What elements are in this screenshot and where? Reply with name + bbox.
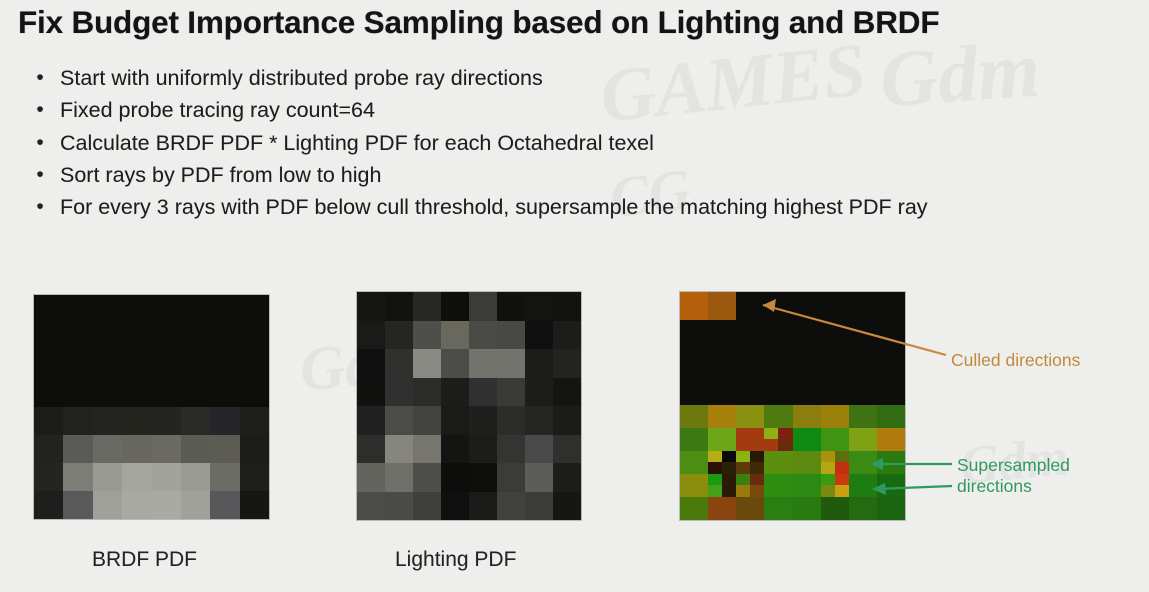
texel <box>385 349 413 378</box>
texel-subsample <box>722 462 736 474</box>
texel <box>849 497 877 520</box>
texel <box>122 295 151 323</box>
texel <box>93 295 122 323</box>
texel <box>34 491 63 519</box>
texel <box>385 378 413 407</box>
texel <box>181 323 210 351</box>
texel-subsample <box>750 474 764 486</box>
texel <box>708 497 736 520</box>
texel-subsample <box>764 428 778 440</box>
texel-subsample <box>708 485 722 497</box>
texel <box>34 323 63 351</box>
texel <box>240 379 269 407</box>
bullet-text: Calculate BRDF PDF * Lighting PDF for ea… <box>60 129 654 157</box>
texel <box>441 463 469 492</box>
texel <box>441 321 469 350</box>
texel <box>210 379 239 407</box>
caption-lighting-pdf: Lighting PDF <box>395 548 516 572</box>
texel <box>152 407 181 435</box>
texel <box>210 407 239 435</box>
texel <box>680 451 708 474</box>
texel <box>736 405 764 428</box>
texel <box>821 428 849 451</box>
texel-subsample <box>750 462 764 474</box>
texel <box>736 497 764 520</box>
texel <box>240 491 269 519</box>
texel-subsample <box>778 428 792 440</box>
texel <box>821 405 849 428</box>
texel <box>849 451 877 474</box>
texel <box>764 497 792 520</box>
texel-subsample <box>750 485 764 497</box>
texel-subsample <box>736 462 750 474</box>
texel <box>357 378 385 407</box>
texel <box>181 295 210 323</box>
texel-subsample <box>778 439 792 451</box>
texel <box>122 351 151 379</box>
texel <box>385 463 413 492</box>
bullet-item: •Sort rays by PDF from low to high <box>20 161 1140 193</box>
texel <box>553 349 581 378</box>
texel <box>122 435 151 463</box>
texel-subsample <box>736 474 750 486</box>
texel-subsample <box>764 439 778 451</box>
texel <box>240 435 269 463</box>
bullet-item: •Fixed probe tracing ray count=64 <box>20 96 1140 128</box>
texel <box>469 463 497 492</box>
texel <box>793 474 821 497</box>
texel-subsample <box>708 474 722 486</box>
texel <box>385 492 413 521</box>
texel <box>877 405 905 428</box>
texel <box>357 349 385 378</box>
texel <box>63 379 92 407</box>
texel <box>849 474 877 497</box>
texel <box>877 497 905 520</box>
texel-subsample <box>750 451 764 463</box>
texel <box>122 491 151 519</box>
texel <box>553 492 581 521</box>
texel <box>152 463 181 491</box>
texel <box>34 463 63 491</box>
texel <box>34 351 63 379</box>
texel <box>680 497 708 520</box>
texel <box>122 323 151 351</box>
texel <box>63 323 92 351</box>
bullet-text: For every 3 rays with PDF below cull thr… <box>60 193 928 221</box>
culled-texel <box>708 292 736 320</box>
texel <box>441 492 469 521</box>
texel <box>63 407 92 435</box>
texel <box>553 321 581 350</box>
texel <box>469 435 497 464</box>
texel <box>469 406 497 435</box>
texel <box>210 351 239 379</box>
slide-title: Fix Budget Importance Sampling based on … <box>18 4 939 41</box>
texel <box>525 321 553 350</box>
texel <box>152 323 181 351</box>
texel <box>525 378 553 407</box>
texel <box>525 435 553 464</box>
bullet-dot-icon: • <box>20 96 60 124</box>
texel <box>93 351 122 379</box>
texel-subsample <box>708 451 722 463</box>
texel <box>764 451 792 474</box>
texel <box>441 378 469 407</box>
figure-brdf-pdf <box>33 294 270 520</box>
texel <box>525 349 553 378</box>
texel <box>793 497 821 520</box>
texel <box>210 463 239 491</box>
texel <box>63 463 92 491</box>
texel <box>152 491 181 519</box>
texel <box>497 321 525 350</box>
texel <box>497 378 525 407</box>
texel <box>413 321 441 350</box>
texel <box>764 405 792 428</box>
texel <box>181 379 210 407</box>
texel <box>413 292 441 321</box>
supersampled-texel <box>736 474 764 497</box>
texel <box>413 492 441 521</box>
texel <box>413 406 441 435</box>
texel <box>385 406 413 435</box>
texel <box>413 378 441 407</box>
texel-subsample <box>736 485 750 497</box>
texel-subsample <box>722 451 736 463</box>
texel <box>441 435 469 464</box>
texel <box>357 406 385 435</box>
texel <box>469 492 497 521</box>
culled-texel <box>680 292 708 320</box>
bullet-dot-icon: • <box>20 129 60 157</box>
texel <box>680 474 708 497</box>
texel-subsample <box>821 474 835 486</box>
texel <box>877 474 905 497</box>
texel <box>93 491 122 519</box>
texel-subsample <box>722 485 736 497</box>
texel <box>821 497 849 520</box>
texel-subsample <box>708 462 722 474</box>
texel <box>497 463 525 492</box>
texel <box>240 463 269 491</box>
texel <box>122 407 151 435</box>
texel <box>708 405 736 428</box>
supersampled-texel <box>708 451 736 474</box>
texel <box>497 435 525 464</box>
bullet-text: Start with uniformly distributed probe r… <box>60 64 543 92</box>
texel <box>877 451 905 474</box>
texel <box>357 321 385 350</box>
result-bottom-region <box>680 405 905 520</box>
texel <box>34 435 63 463</box>
texel-subsample <box>821 485 835 497</box>
texel <box>497 406 525 435</box>
texel <box>849 428 877 451</box>
texel <box>210 323 239 351</box>
bullet-text: Sort rays by PDF from low to high <box>60 161 381 189</box>
texel <box>497 292 525 321</box>
texel <box>553 435 581 464</box>
texel <box>63 435 92 463</box>
bullet-dot-icon: • <box>20 64 60 92</box>
bullet-item: •Start with uniformly distributed probe … <box>20 64 1140 96</box>
texel <box>525 492 553 521</box>
texel <box>385 321 413 350</box>
texel <box>93 435 122 463</box>
texel <box>210 435 239 463</box>
texel <box>553 406 581 435</box>
bullet-text: Fixed probe tracing ray count=64 <box>60 96 375 124</box>
texel <box>181 435 210 463</box>
texel <box>441 406 469 435</box>
figure-combined-pdf <box>679 291 906 521</box>
texel <box>63 491 92 519</box>
texel <box>525 463 553 492</box>
caption-brdf-pdf: BRDF PDF <box>92 548 197 572</box>
texel <box>34 379 63 407</box>
texel-subsample <box>835 474 849 486</box>
texel <box>680 428 708 451</box>
texel <box>793 428 821 451</box>
texel <box>357 492 385 521</box>
texel-subsample <box>835 451 849 463</box>
texel <box>357 435 385 464</box>
texel <box>708 428 736 451</box>
culled-directions-block <box>680 292 736 320</box>
figure-lighting-pdf <box>356 291 582 521</box>
texel <box>63 295 92 323</box>
texel <box>469 378 497 407</box>
texel <box>34 407 63 435</box>
texel <box>793 405 821 428</box>
brdf-texel-grid <box>34 295 269 519</box>
texel <box>469 321 497 350</box>
texel <box>93 323 122 351</box>
supersampled-texel <box>821 474 849 497</box>
texel <box>553 463 581 492</box>
texel <box>877 428 905 451</box>
lighting-texel-grid <box>357 292 581 520</box>
texel-subsample <box>722 474 736 486</box>
bullet-item: •Calculate BRDF PDF * Lighting PDF for e… <box>20 129 1140 161</box>
annotation-culled-directions: Culled directions <box>951 350 1080 371</box>
texel <box>122 379 151 407</box>
texel <box>63 351 92 379</box>
texel <box>441 292 469 321</box>
texel <box>181 491 210 519</box>
texel <box>181 463 210 491</box>
result-texel-grid <box>680 405 905 520</box>
texel <box>525 406 553 435</box>
texel <box>793 451 821 474</box>
texel <box>181 407 210 435</box>
texel <box>357 292 385 321</box>
texel <box>93 463 122 491</box>
texel-subsample <box>835 462 849 474</box>
bullet-list: •Start with uniformly distributed probe … <box>20 64 1140 225</box>
texel <box>93 379 122 407</box>
texel <box>152 379 181 407</box>
texel <box>469 349 497 378</box>
supersampled-texel <box>736 451 764 474</box>
texel <box>680 405 708 428</box>
texel <box>240 351 269 379</box>
texel <box>553 378 581 407</box>
annotation-supersampled-directions: Supersampled directions <box>957 455 1070 497</box>
texel <box>736 428 764 451</box>
texel <box>240 323 269 351</box>
texel <box>152 435 181 463</box>
supersampled-texel <box>708 474 736 497</box>
texel <box>152 351 181 379</box>
texel-subsample <box>835 485 849 497</box>
texel <box>210 491 239 519</box>
texel <box>553 292 581 321</box>
bullet-dot-icon: • <box>20 193 60 221</box>
texel <box>413 349 441 378</box>
bullet-dot-icon: • <box>20 161 60 189</box>
supersampled-texel <box>764 428 792 451</box>
texel <box>497 349 525 378</box>
texel <box>240 407 269 435</box>
texel <box>152 295 181 323</box>
texel <box>764 474 792 497</box>
texel <box>385 435 413 464</box>
texel <box>122 463 151 491</box>
texel <box>181 351 210 379</box>
texel-subsample <box>821 451 835 463</box>
texel <box>93 407 122 435</box>
texel <box>413 435 441 464</box>
texel <box>469 292 497 321</box>
texel-subsample <box>821 462 835 474</box>
texel <box>497 492 525 521</box>
texel <box>525 292 553 321</box>
texel <box>357 463 385 492</box>
texel <box>413 463 441 492</box>
texel <box>34 295 63 323</box>
texel <box>441 349 469 378</box>
bullet-item: •For every 3 rays with PDF below cull th… <box>20 193 1140 225</box>
texel-subsample <box>736 451 750 463</box>
texel <box>849 405 877 428</box>
texel <box>240 295 269 323</box>
texel <box>210 295 239 323</box>
supersampled-texel <box>821 451 849 474</box>
texel <box>385 292 413 321</box>
